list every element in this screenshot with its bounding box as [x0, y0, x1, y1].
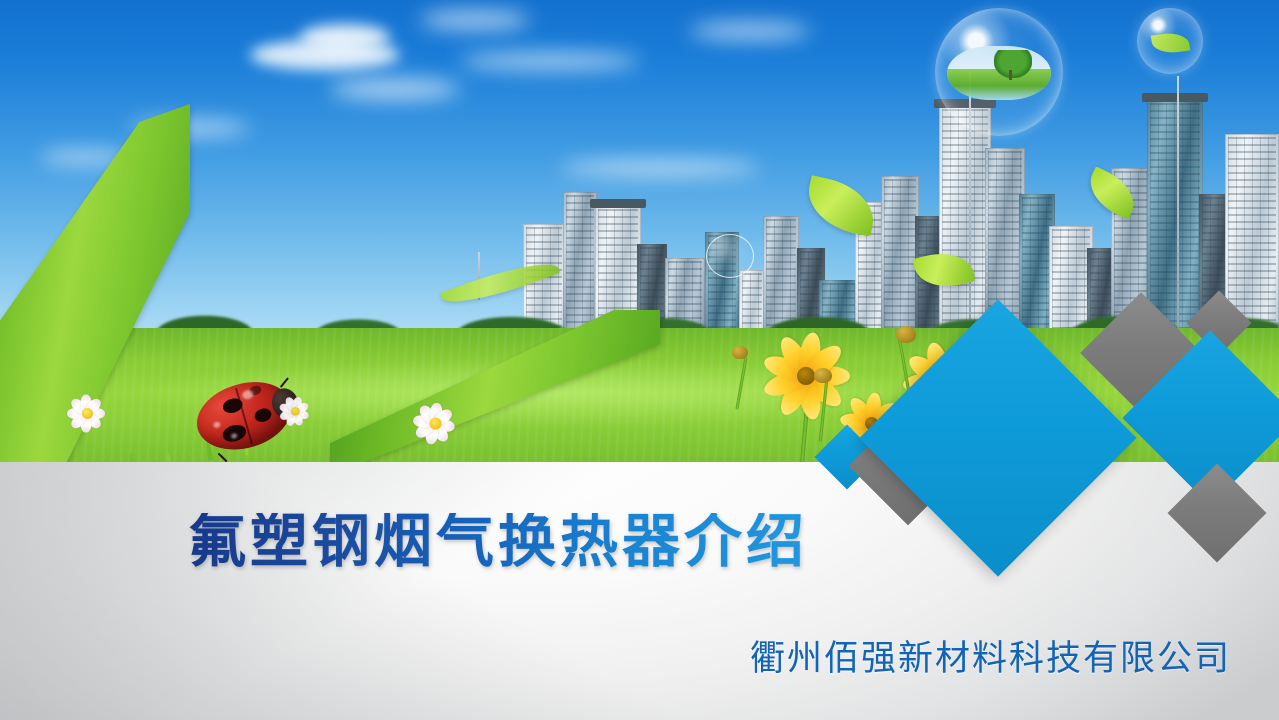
- bubble-landscape: [947, 46, 1052, 100]
- white-cosmos-flower: [64, 390, 110, 436]
- title-slide: 氟塑钢烟气换热器介绍 衢州佰强新材料科技有限公司: [0, 0, 1279, 720]
- white-cosmos-flower: [277, 393, 314, 430]
- cloud-icon: [330, 78, 460, 100]
- flower-bud: [896, 326, 916, 343]
- flower-bud: [814, 368, 832, 383]
- flower-bud: [732, 346, 748, 359]
- tree-icon: [994, 50, 1032, 78]
- tree-trunk: [1009, 70, 1012, 80]
- content-panel: [0, 462, 1279, 720]
- white-cosmos-flower: [410, 398, 461, 449]
- company-name: 衢州佰强新材料科技有限公司: [750, 641, 1231, 676]
- leaf-icon: [1150, 31, 1189, 56]
- cloud-icon: [300, 24, 390, 50]
- grass-blade-right: [330, 310, 660, 462]
- slide-title: 氟塑钢烟气换热器介绍: [188, 513, 808, 571]
- panel-gradient-overlay: [0, 462, 1279, 720]
- transparent-bubble-outline: [706, 234, 754, 278]
- soap-bubble-with-leaf: [1137, 8, 1203, 74]
- cloud-icon: [420, 10, 530, 30]
- soap-bubble-with-tree: [935, 8, 1063, 136]
